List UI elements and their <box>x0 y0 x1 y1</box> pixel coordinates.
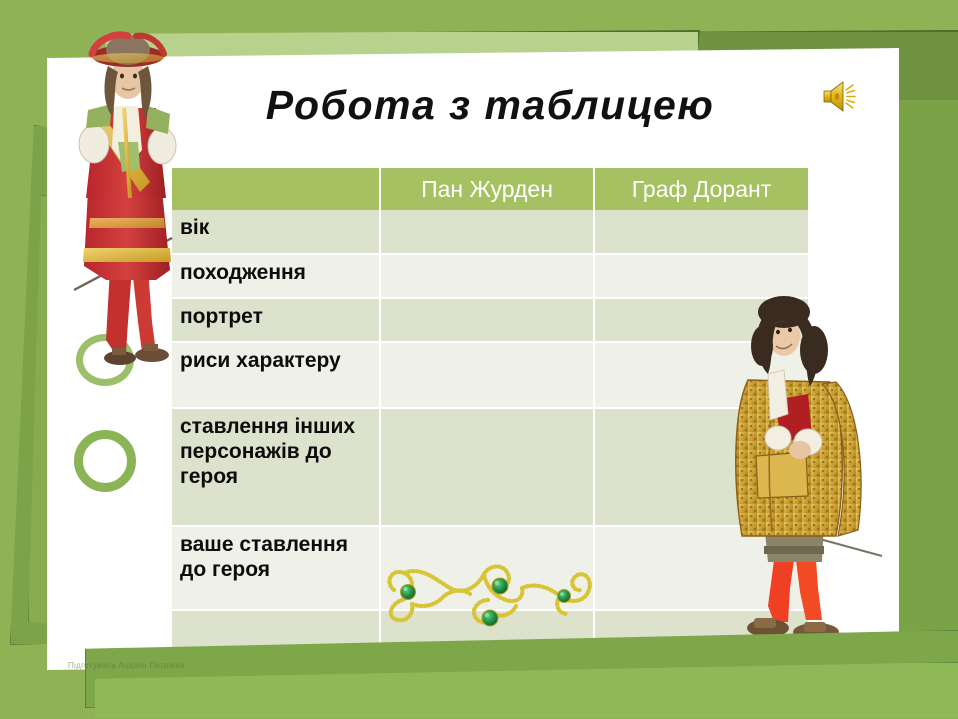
cell-stavlennya-inshykh-pan-jourden[interactable] <box>380 408 594 526</box>
speaker-icon[interactable] <box>820 76 864 116</box>
credit-watermark: Підготувала Лодзян Петрівна <box>68 661 185 670</box>
cell-rysy-pan-jourden[interactable] <box>380 342 594 408</box>
green-ring-icon <box>74 430 136 492</box>
cell-vik-pan-jourden[interactable] <box>380 210 594 254</box>
column-header-graf-dorant: Граф Дорант <box>594 168 808 210</box>
row-label-pohodzhennya: походження <box>172 254 380 298</box>
column-header-blank <box>172 168 380 210</box>
cell-portret-pan-jourden[interactable] <box>380 298 594 342</box>
row-label-rysy-kharakteru: риси характеру <box>172 342 380 408</box>
row-label-portret: портрет <box>172 298 380 342</box>
cell-vashe-stavlennya-pan-jourden[interactable] <box>380 526 594 610</box>
page-title: Робота з таблицею <box>180 82 800 129</box>
pan-jourdain-figure <box>52 22 202 392</box>
slide-canvas: Робота з таблицею <box>0 0 958 719</box>
row-label-vik: вік <box>172 210 380 254</box>
table-row: вік <box>172 210 808 254</box>
row-label-vashe-stavlennya: ваше ставлення до героя <box>172 526 380 610</box>
column-header-pan-jourden: Пан Журден <box>380 168 594 210</box>
row-label-stavlennya-inshykh: ставлення інших персонажів до героя <box>172 408 380 526</box>
table-header-row: Пан Журден Граф Дорант <box>172 168 808 210</box>
cell-vik-graf-dorant[interactable] <box>594 210 808 254</box>
cell-pohodzhennya-pan-jourden[interactable] <box>380 254 594 298</box>
count-dorante-figure <box>712 288 897 668</box>
